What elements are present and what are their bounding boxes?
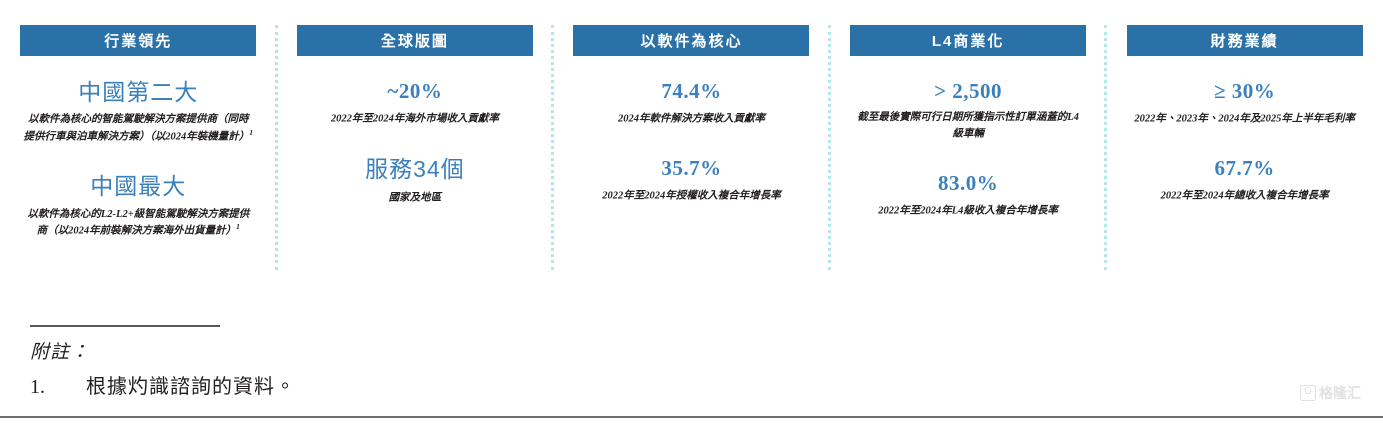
stat-caption: 截至最後實際可行日期所獲指示性訂單涵蓋的L4級車輛 bbox=[853, 110, 1083, 142]
stat-caption-text: 2022年至2024年海外市場收入貢獻率 bbox=[331, 114, 499, 125]
column-header-badge: L4商業化 bbox=[850, 25, 1086, 56]
stat-caption-text: 截至最後實際可行日期所獲指示性訂單涵蓋的L4級車輛 bbox=[857, 112, 1079, 140]
page-bottom-rule bbox=[0, 416, 1383, 418]
stat-caption: 2022年至2024年L4級收入複合年增長率 bbox=[878, 202, 1058, 219]
stat-caption-text: 以軟件為核心的L2-L2+級智能駕駛解決方案提供商（以2024年前裝解決方案海外… bbox=[27, 209, 249, 237]
stat-caption: 2022年至2024年總收入複合年增長率 bbox=[1161, 187, 1329, 204]
stat-value: 83.0% bbox=[938, 172, 998, 195]
stat-block: 83.0% 2022年至2024年L4級收入複合年增長率 bbox=[838, 172, 1099, 219]
highlight-column-industry-leading: 行業領先 中國第二大 以軟件為核心的智能駕駛解決方案提供商（同時提供行車與泊車解… bbox=[0, 25, 277, 273]
stat-caption: 2022年、2023年、2024年及2025年上半年毛利率 bbox=[1134, 110, 1355, 127]
highlight-column-financial-performance: 財務業績 ≥ 30% 2022年、2023年、2024年及2025年上半年毛利率… bbox=[1106, 25, 1383, 273]
stat-caption-text: 2022年、2023年、2024年及2025年上半年毛利率 bbox=[1134, 114, 1355, 125]
stat-value: ≥ 30% bbox=[1214, 80, 1275, 103]
footnote-ref: 1 bbox=[249, 128, 253, 137]
stat-value: 67.7% bbox=[1215, 157, 1275, 180]
stat-caption: 2024年軟件解決方案收入貢獻率 bbox=[618, 110, 765, 127]
stat-value: ~20% bbox=[387, 80, 442, 103]
footnote-label: 附註： bbox=[30, 337, 1350, 364]
stat-block: ~20% 2022年至2024年海外市場收入貢獻率 bbox=[285, 80, 546, 127]
stat-caption-text: 國家及地區 bbox=[389, 193, 442, 204]
stat-block: ≥ 30% 2022年、2023年、2024年及2025年上半年毛利率 bbox=[1114, 80, 1375, 127]
stat-block: 服務34個 國家及地區 bbox=[285, 157, 546, 206]
highlight-column-global-footprint: 全球版圖 ~20% 2022年至2024年海外市場收入貢獻率 服務34個 國家及… bbox=[277, 25, 554, 273]
stat-caption: 國家及地區 bbox=[389, 189, 442, 206]
stat-caption-text: 2022年至2024年授權收入複合年增長率 bbox=[602, 190, 781, 201]
stat-block: 74.4% 2024年軟件解決方案收入貢獻率 bbox=[561, 80, 822, 127]
stat-block: > 2,500 截至最後實際可行日期所獲指示性訂單涵蓋的L4級車輛 bbox=[838, 80, 1099, 142]
footnote-ref: 1 bbox=[236, 222, 240, 231]
column-header-badge: 行業領先 bbox=[20, 25, 256, 56]
footnote-divider bbox=[30, 325, 220, 327]
stat-block: 中國最大 以軟件為核心的L2-L2+級智能駕駛解決方案提供商（以2024年前裝解… bbox=[8, 174, 269, 238]
stat-block: 67.7% 2022年至2024年總收入複合年增長率 bbox=[1114, 157, 1375, 204]
column-header-badge: 財務業績 bbox=[1127, 25, 1363, 56]
highlight-column-l4-commercialization: L4商業化 > 2,500 截至最後實際可行日期所獲指示性訂單涵蓋的L4級車輛 … bbox=[830, 25, 1107, 273]
stat-value: 中國最大 bbox=[90, 174, 186, 199]
watermark: G 格隆汇 bbox=[1300, 383, 1361, 403]
stat-value: 中國第二大 bbox=[78, 80, 198, 105]
stat-caption: 2022年至2024年授權收入複合年增長率 bbox=[602, 187, 781, 204]
stat-value: 74.4% bbox=[661, 80, 721, 103]
stat-caption: 以軟件為核心的L2-L2+級智能駕駛解決方案提供商（以2024年前裝解決方案海外… bbox=[23, 207, 253, 239]
highlights-panel: 行業領先 中國第二大 以軟件為核心的智能駕駛解決方案提供商（同時提供行車與泊車解… bbox=[0, 25, 1383, 273]
stat-caption: 2022年至2024年海外市場收入貢獻率 bbox=[331, 110, 499, 127]
highlight-column-software-defined: 以軟件為核心 74.4% 2024年軟件解決方案收入貢獻率 35.7% 2022… bbox=[553, 25, 830, 273]
stat-caption-text: 2022年至2024年L4級收入複合年增長率 bbox=[878, 206, 1058, 217]
stat-caption: 以軟件為核心的智能駕駛解決方案提供商（同時提供行車與泊車解決方案）（以2024年… bbox=[23, 112, 253, 144]
footnote-item-number: 1. bbox=[30, 376, 86, 399]
stat-block: 35.7% 2022年至2024年授權收入複合年增長率 bbox=[561, 157, 822, 204]
column-header-badge: 全球版圖 bbox=[297, 25, 533, 56]
stat-value: 35.7% bbox=[661, 157, 721, 180]
column-header-badge: 以軟件為核心 bbox=[573, 25, 809, 56]
stat-value: > 2,500 bbox=[934, 80, 1002, 103]
stat-caption-text: 2024年軟件解決方案收入貢獻率 bbox=[618, 114, 765, 125]
footnote-item-text: 根據灼識諮詢的資料。 bbox=[86, 370, 296, 399]
stat-block: 中國第二大 以軟件為核心的智能駕駛解決方案提供商（同時提供行車與泊車解決方案）（… bbox=[8, 80, 269, 144]
stat-caption-text: 以軟件為核心的智能駕駛解決方案提供商（同時提供行車與泊車解決方案）（以2024年… bbox=[24, 114, 250, 142]
stat-value: 服務34個 bbox=[365, 157, 465, 182]
watermark-text: 格隆汇 bbox=[1319, 383, 1361, 403]
watermark-logo-icon: G bbox=[1300, 385, 1316, 401]
footnote-section: 附註： 1. 根據灼識諮詢的資料。 bbox=[30, 325, 1350, 399]
stat-caption-text: 2022年至2024年總收入複合年增長率 bbox=[1161, 190, 1329, 201]
footnote-item: 1. 根據灼識諮詢的資料。 bbox=[30, 370, 1350, 399]
